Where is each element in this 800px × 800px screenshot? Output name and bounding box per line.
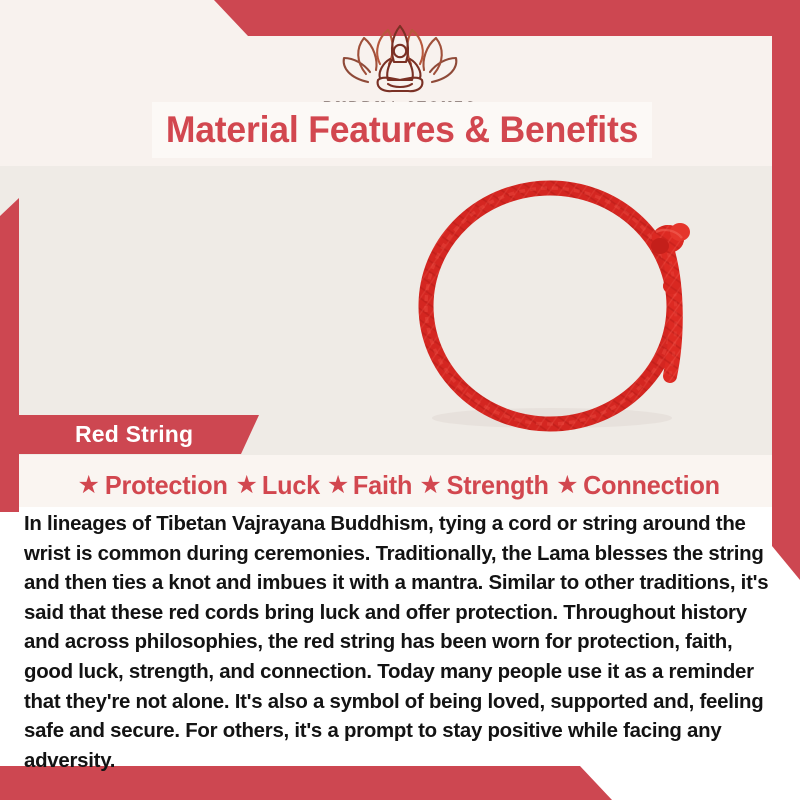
lotus-meditation-icon — [334, 20, 466, 94]
benefit-label: Luck — [262, 470, 320, 501]
star-icon: ★ — [78, 473, 100, 498]
star-icon: ★ — [236, 473, 258, 498]
page-title: Material Features & Benefits — [152, 102, 652, 158]
benefit-item-1: ★ Luck — [236, 470, 321, 501]
product-tag: Red String — [19, 415, 259, 454]
product-tag-label: Red String — [75, 421, 193, 448]
benefit-label: Protection — [105, 470, 228, 501]
benefit-item-3: ★ Strength — [419, 470, 550, 501]
star-icon: ★ — [327, 473, 349, 498]
cord-knot — [651, 223, 690, 254]
benefit-label: Strength — [446, 470, 548, 501]
red-braided-cord-bracelet-icon — [352, 168, 772, 448]
benefit-item-4: ★ Connection — [556, 470, 722, 501]
benefit-item-0: ★ Protection — [78, 470, 230, 501]
benefit-label: Connection — [584, 470, 721, 501]
product-image — [19, 166, 772, 456]
page-title-text: Material Features & Benefits — [166, 109, 638, 151]
benefit-label: Faith — [353, 470, 412, 501]
star-icon: ★ — [419, 473, 441, 498]
star-icon: ★ — [556, 473, 578, 498]
benefits-list: ★ Protection ★ Luck ★ Faith ★ Strength ★… — [0, 464, 800, 506]
benefit-item-2: ★ Faith — [327, 470, 414, 501]
material-features-poster: BUDDHA STONES Material Features & Benefi… — [0, 0, 800, 800]
description-text: In lineages of Tibetan Vajrayana Buddhis… — [24, 510, 776, 776]
